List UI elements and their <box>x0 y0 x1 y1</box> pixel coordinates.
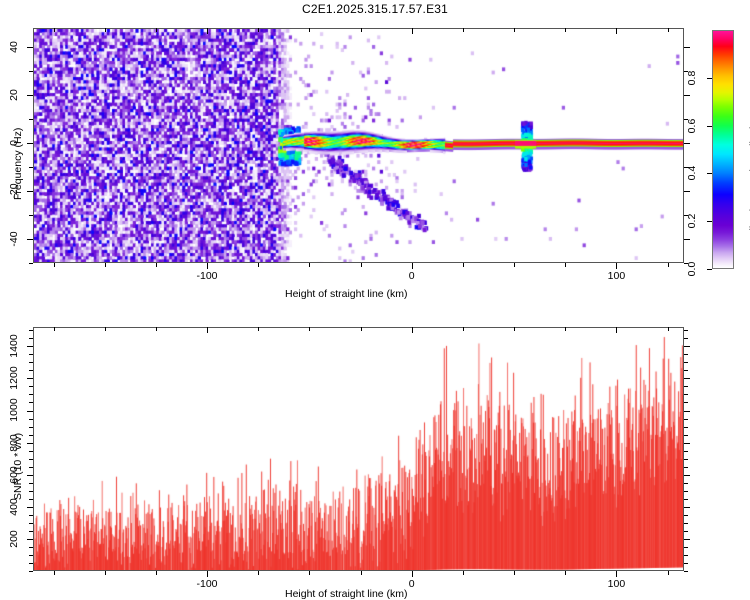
colorbar-tick-label: 0.2 <box>686 207 698 235</box>
x-tick-top <box>514 28 515 32</box>
y-tick <box>27 475 33 476</box>
y-tick-right <box>684 483 688 484</box>
spectrogram-axes <box>33 28 684 263</box>
x-tick <box>463 263 464 267</box>
y-tick-label: 1200 <box>8 363 20 393</box>
x-tick <box>616 571 617 577</box>
colorbar-tick-label: 0.4 <box>686 159 698 187</box>
y-tick <box>29 451 33 452</box>
spectrogram-ylabel: Frequency (Hz) <box>12 128 24 200</box>
colorbar-tick <box>707 173 712 174</box>
y-tick-right <box>684 563 688 564</box>
y-tick-right <box>684 435 688 436</box>
y-tick-label: -40 <box>8 224 20 254</box>
y-tick-right <box>684 475 690 476</box>
x-tick <box>54 571 55 575</box>
x-tick <box>258 571 259 575</box>
y-tick <box>27 239 33 240</box>
x-tick-top <box>463 327 464 331</box>
y-tick <box>29 386 33 387</box>
colorbar-tick-label: 0.0 <box>686 255 698 283</box>
x-tick-label: -100 <box>196 578 217 590</box>
y-tick-right <box>684 467 688 468</box>
x-tick <box>616 263 617 269</box>
y-tick <box>27 47 33 48</box>
x-tick-top <box>412 327 413 333</box>
y-tick-label: 200 <box>8 524 20 554</box>
y-tick <box>29 571 33 572</box>
spectrogram-image <box>34 29 684 263</box>
snr-axes <box>33 327 684 571</box>
y-tick <box>29 354 33 355</box>
x-tick-top <box>514 327 515 331</box>
y-tick <box>29 370 33 371</box>
x-tick-top <box>258 327 259 331</box>
x-tick <box>54 263 55 267</box>
x-tick <box>514 263 515 267</box>
colorbar-tick <box>707 78 712 79</box>
y-tick <box>29 362 33 363</box>
snr-ylabel: SNR (10 * v/v) <box>12 433 24 500</box>
y-tick <box>29 427 33 428</box>
y-tick <box>29 119 33 120</box>
y-tick-right <box>684 419 688 420</box>
x-tick <box>156 571 157 575</box>
y-tick-right <box>684 443 690 444</box>
colorbar-tick <box>707 221 712 222</box>
x-tick-label: 100 <box>608 270 626 282</box>
x-tick <box>361 571 362 575</box>
x-tick-top <box>361 28 362 32</box>
y-tick <box>29 483 33 484</box>
x-tick <box>565 571 566 575</box>
x-tick <box>668 263 669 267</box>
x-tick-top <box>156 28 157 32</box>
y-tick <box>29 419 33 420</box>
x-tick <box>412 263 413 269</box>
x-tick-top <box>309 28 310 32</box>
y-tick-right <box>684 539 690 540</box>
y-tick <box>27 143 33 144</box>
x-tick <box>668 571 669 575</box>
y-tick-right <box>684 239 690 240</box>
y-tick <box>27 346 33 347</box>
x-tick-top <box>616 327 617 333</box>
y-tick <box>29 394 33 395</box>
y-tick-right <box>684 370 688 371</box>
y-tick-label: 20 <box>8 80 20 110</box>
x-tick <box>514 571 515 575</box>
x-tick <box>309 263 310 267</box>
y-tick-right <box>684 394 688 395</box>
y-tick-right <box>684 411 690 412</box>
y-tick <box>29 555 33 556</box>
y-tick-right <box>684 547 688 548</box>
y-tick-right <box>684 523 688 524</box>
x-tick <box>412 571 413 577</box>
y-tick <box>29 215 33 216</box>
y-tick <box>27 539 33 540</box>
x-tick <box>207 571 208 577</box>
x-tick <box>361 263 362 267</box>
colorbar-tick-label: 0.8 <box>686 64 698 92</box>
y-tick <box>29 71 33 72</box>
x-tick <box>207 263 208 269</box>
y-tick-right <box>684 451 688 452</box>
y-tick-right <box>684 378 690 379</box>
y-tick-right <box>684 386 688 387</box>
figure-title: C2E1.2025.315.17.57.E31 <box>0 2 750 16</box>
y-tick <box>29 515 33 516</box>
snr-xlabel: Height of straight line (km) <box>285 588 408 600</box>
x-tick <box>156 263 157 267</box>
spectrogram-canvas <box>34 29 683 262</box>
x-tick-top <box>463 28 464 32</box>
y-tick-right <box>684 346 690 347</box>
colorbar-tick-label: 0.6 <box>686 112 698 140</box>
y-tick-right <box>684 330 688 331</box>
y-tick-label: 1400 <box>8 331 20 361</box>
y-tick-right <box>684 427 688 428</box>
y-tick-right <box>684 491 688 492</box>
x-tick-top <box>565 28 566 32</box>
x-tick <box>463 571 464 575</box>
x-tick-top <box>258 28 259 32</box>
y-tick-right <box>684 47 690 48</box>
x-tick-top <box>668 327 669 331</box>
y-tick <box>29 338 33 339</box>
x-tick-top <box>156 327 157 331</box>
y-tick <box>27 411 33 412</box>
x-tick-top <box>54 327 55 331</box>
y-tick <box>29 402 33 403</box>
y-tick <box>29 499 33 500</box>
snr-canvas <box>34 328 683 570</box>
y-tick <box>27 378 33 379</box>
y-tick-right <box>684 354 688 355</box>
x-tick-top <box>668 28 669 32</box>
y-tick-right <box>684 95 690 96</box>
spectrogram-xlabel: Height of straight line (km) <box>285 288 408 300</box>
x-tick <box>565 263 566 267</box>
y-tick <box>27 191 33 192</box>
y-tick-right <box>684 555 688 556</box>
y-tick-right <box>684 531 688 532</box>
x-tick-top <box>616 28 617 34</box>
y-tick-label: 40 <box>8 32 20 62</box>
y-tick-right <box>684 338 688 339</box>
y-tick-right <box>684 191 690 192</box>
y-tick <box>27 95 33 96</box>
x-tick-top <box>105 327 106 331</box>
y-tick-right <box>684 507 690 508</box>
x-tick-top <box>105 28 106 32</box>
y-tick-right <box>684 499 688 500</box>
y-tick-right <box>684 143 690 144</box>
colorbar-gradient <box>713 31 733 268</box>
y-tick <box>29 167 33 168</box>
y-tick <box>29 523 33 524</box>
x-tick-label: 100 <box>608 578 626 590</box>
x-tick <box>309 571 310 575</box>
x-tick-top <box>361 327 362 331</box>
colorbar-tick <box>707 126 712 127</box>
y-tick <box>27 507 33 508</box>
x-tick-label: 0 <box>409 270 415 282</box>
figure-root: C2E1.2025.315.17.57.E31 -100010040200-20… <box>0 0 750 600</box>
y-tick-right <box>684 362 688 363</box>
y-tick <box>27 443 33 444</box>
x-tick <box>105 571 106 575</box>
x-tick-top <box>54 28 55 32</box>
x-tick-top <box>309 327 310 331</box>
y-tick <box>29 263 33 264</box>
y-tick <box>29 330 33 331</box>
y-tick <box>29 531 33 532</box>
y-tick-right <box>684 571 688 572</box>
colorbar <box>712 30 734 269</box>
x-tick-label: -100 <box>196 270 217 282</box>
y-tick-right <box>684 515 688 516</box>
snr-trace <box>34 328 684 571</box>
y-tick-label: 1000 <box>8 395 20 425</box>
x-tick-label: 0 <box>409 578 415 590</box>
y-tick <box>29 459 33 460</box>
x-tick-top <box>207 327 208 333</box>
x-tick-top <box>565 327 566 331</box>
x-tick-top <box>412 28 413 34</box>
y-tick-right <box>684 402 688 403</box>
y-tick-right <box>684 459 688 460</box>
x-tick <box>105 263 106 267</box>
y-tick <box>29 435 33 436</box>
y-tick <box>29 547 33 548</box>
y-tick <box>29 563 33 564</box>
y-tick <box>29 491 33 492</box>
x-tick-top <box>207 28 208 34</box>
colorbar-tick <box>707 269 712 270</box>
x-tick <box>258 263 259 267</box>
y-tick <box>29 467 33 468</box>
